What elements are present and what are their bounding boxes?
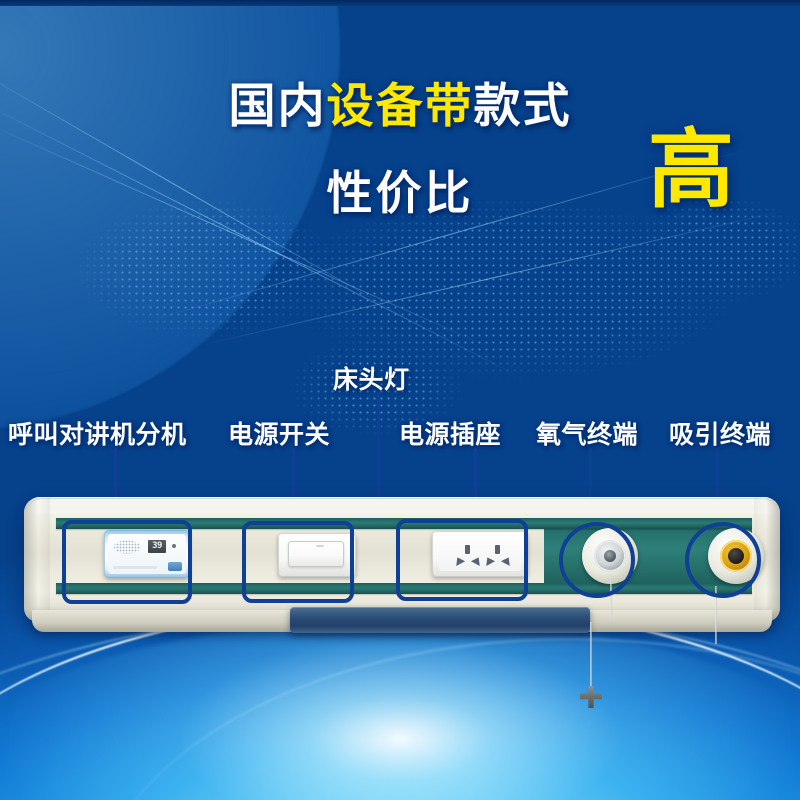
unit-end-cap-left — [24, 497, 50, 622]
highlight-box-power-socket — [396, 519, 528, 601]
highlight-box-nurse-call-intercom — [62, 520, 192, 604]
highlight-box-power-switch — [242, 521, 354, 603]
headline-text-white-a: 国内 — [229, 79, 327, 132]
bedside-lamp-strip[interactable] — [290, 607, 590, 633]
headline-text-yellow: 设备带 — [327, 79, 474, 132]
top-edge-bar — [0, 0, 800, 6]
callout-label-oxygen-terminal: 氧气终端 — [536, 415, 638, 451]
headline-line-2: 性价比 高 — [0, 155, 800, 233]
callout-label-bedside-lamp: 床头灯 — [333, 360, 410, 396]
headline-text-white-b: 款式 — [474, 79, 572, 132]
poster-canvas: 国内设备带款式 性价比 高 呼叫对讲机分机 电源开关 床头灯 电源插座 氧气终端… — [0, 0, 800, 800]
suction-pull-cord-lower[interactable] — [590, 622, 592, 694]
callout-label-suction-terminal: 吸引终端 — [669, 415, 771, 451]
headline-emphasis: 高 — [648, 127, 734, 213]
callout-label-power-socket: 电源插座 — [399, 415, 501, 451]
callout-label-nurse-call-intercom: 呼叫对讲机分机 — [8, 415, 187, 451]
highlight-circle-suction-terminal — [685, 522, 761, 598]
unit-top-highlight — [28, 499, 776, 516]
headline-block: 国内设备带款式 性价比 高 — [0, 82, 800, 233]
callout-label-power-switch: 电源开关 — [228, 415, 330, 451]
highlight-circle-oxygen-terminal — [559, 522, 635, 598]
